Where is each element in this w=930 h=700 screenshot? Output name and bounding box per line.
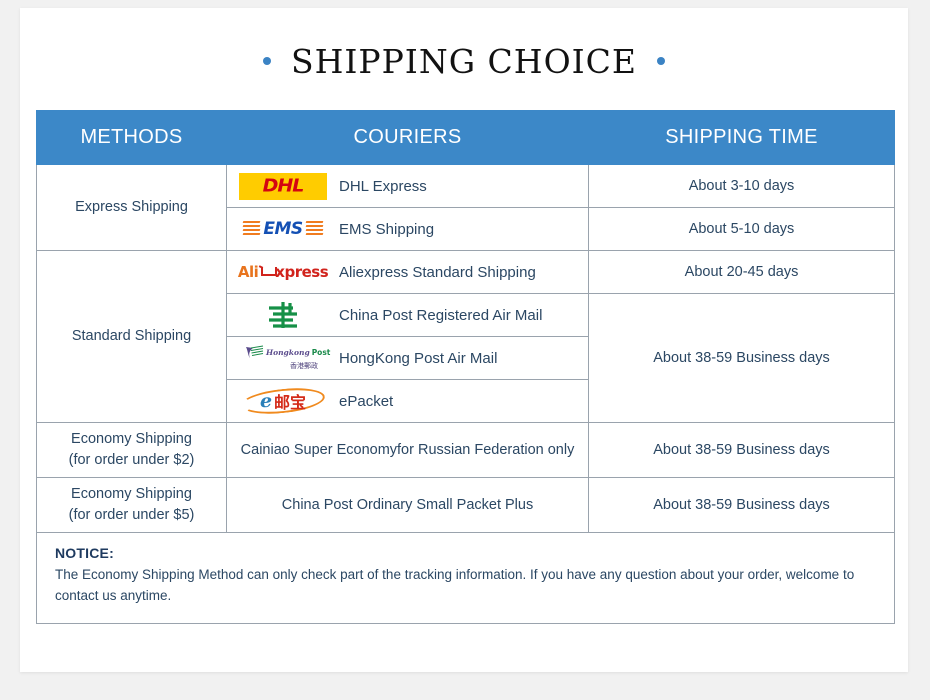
dhl-logo-text: DHL	[263, 176, 304, 196]
courier-china-post-ordinary: China Post Ordinary Small Packet Plus	[227, 478, 589, 533]
courier-dhl: DHL DHL Express	[227, 165, 589, 208]
shipping-time: About 38-59 Business days	[589, 423, 895, 478]
courier-name: ePacket	[339, 393, 393, 410]
hongkong-post-logo-chinese: 香港郵政	[244, 361, 322, 371]
method-standard-shipping: Standard Shipping	[37, 251, 227, 423]
page-title: SHIPPING CHOICE	[291, 42, 637, 81]
courier-name: EMS Shipping	[339, 221, 434, 238]
shipping-table: METHODS COURIERS SHIPPING TIME Express S…	[36, 110, 895, 624]
shipping-time: About 20-45 days	[589, 251, 895, 294]
shipping-time: About 38-59 Business days	[589, 478, 895, 533]
table-row: Express Shipping DHL DHL Express About 3…	[37, 165, 895, 208]
epacket-logo: e 邮宝	[237, 387, 329, 415]
method-express-shipping: Express Shipping	[37, 165, 227, 251]
shipping-time: About 3-10 days	[589, 165, 895, 208]
courier-name: Aliexpress Standard Shipping	[339, 264, 536, 281]
page-title-row: SHIPPING CHOICE	[20, 8, 908, 100]
table-row: Economy Shipping (for order under $2) Ca…	[37, 423, 895, 478]
table-header-row: METHODS COURIERS SHIPPING TIME	[37, 111, 895, 165]
method-economy-shipping-2: Economy Shipping (for order under $2)	[37, 423, 227, 478]
courier-name: HongKong Post Air Mail	[339, 350, 497, 367]
hongkong-post-logo: Hongkong Post 香港郵政	[237, 342, 329, 374]
column-header-methods: METHODS	[37, 111, 227, 165]
shipping-choice-card: SHIPPING CHOICE METHODS COURIERS SHIPPIN…	[20, 8, 908, 672]
courier-ems: EMS EMS Shipping	[227, 208, 589, 251]
table-row: Standard Shipping Ali xpress Aliexpress …	[37, 251, 895, 294]
method-economy-shipping-5: Economy Shipping (for order under $5)	[37, 478, 227, 533]
column-header-couriers: COURIERS	[227, 111, 589, 165]
courier-hongkong-post: Hongkong Post 香港郵政 HongKong Post Air Mai…	[227, 337, 589, 380]
method-sublabel: (for order under $2)	[45, 450, 218, 471]
courier-china-post-registered: China Post Registered Air Mail	[227, 294, 589, 337]
table-row: Economy Shipping (for order under $5) Ch…	[37, 478, 895, 533]
aliexpress-logo-suffix: xpress	[275, 263, 328, 281]
shopping-cart-icon	[259, 265, 274, 279]
china-post-logo	[237, 299, 329, 331]
aliexpress-logo-prefix: Ali	[238, 263, 258, 281]
hongkong-post-logo-word2: Post	[312, 349, 331, 357]
aliexpress-logo: Ali xpress	[237, 260, 329, 284]
ems-logo-text: EMS	[263, 219, 302, 239]
method-label: Economy Shipping	[45, 484, 218, 505]
bird-icon	[244, 345, 264, 360]
ems-logo: EMS	[237, 216, 329, 242]
notice-cell: NOTICE: The Economy Shipping Method can …	[37, 533, 895, 624]
shipping-time: About 5-10 days	[589, 208, 895, 251]
table-header: METHODS COURIERS SHIPPING TIME	[37, 111, 895, 165]
hongkong-post-logo-word1: Hongkong	[266, 349, 310, 357]
column-header-shipping-time: SHIPPING TIME	[589, 111, 895, 165]
method-label: Economy Shipping	[45, 429, 218, 450]
notice-body: The Economy Shipping Method can only che…	[55, 565, 876, 607]
notice-row: NOTICE: The Economy Shipping Method can …	[37, 533, 895, 624]
title-dot-right-icon	[657, 57, 665, 65]
china-post-emblem-icon	[263, 299, 303, 331]
dhl-logo: DHL	[237, 173, 329, 200]
table-body: Express Shipping DHL DHL Express About 3…	[37, 165, 895, 624]
courier-aliexpress: Ali xpress Aliexpress Standard Shipping	[227, 251, 589, 294]
shipping-time-merged: About 38-59 Business days	[589, 294, 895, 423]
courier-epacket: e 邮宝 ePacket	[227, 380, 589, 423]
method-sublabel: (for order under $5)	[45, 505, 218, 526]
epacket-logo-chinese: 邮宝	[274, 389, 306, 413]
courier-name: DHL Express	[339, 178, 427, 195]
notice-title: NOTICE:	[55, 545, 876, 561]
title-dot-left-icon	[263, 57, 271, 65]
courier-cainiao: Cainiao Super Economyfor Russian Federat…	[227, 423, 589, 478]
epacket-logo-letter: e	[260, 390, 272, 412]
courier-name: China Post Registered Air Mail	[339, 307, 542, 324]
